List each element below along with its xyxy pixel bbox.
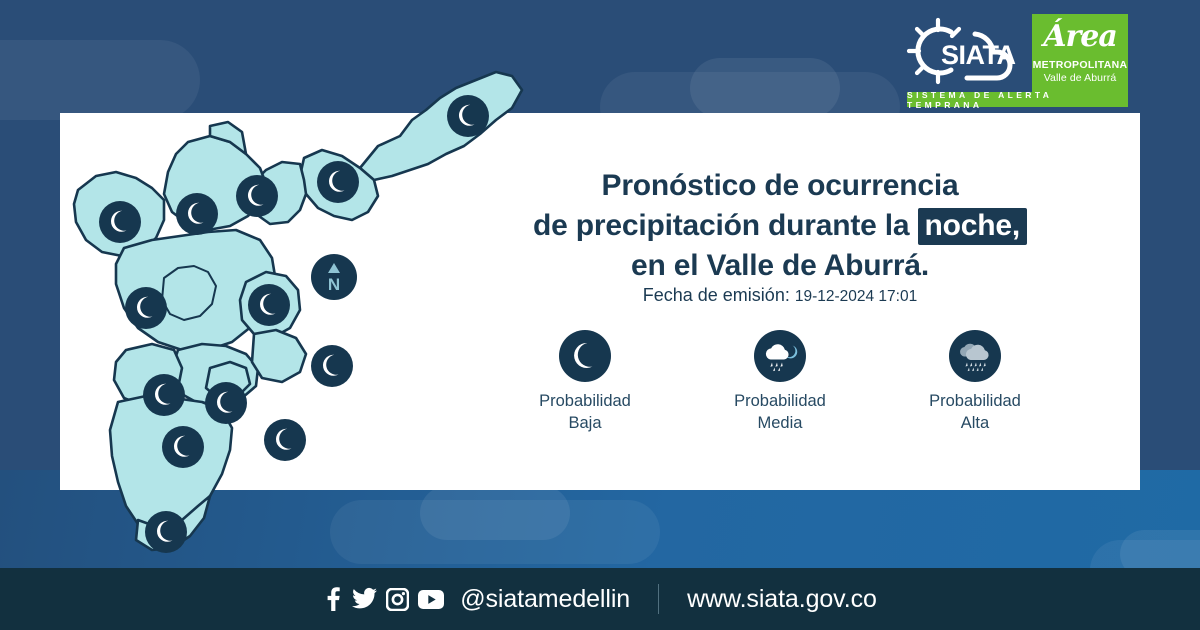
legend-alta-line2: Alta	[929, 413, 1021, 435]
twitter-icon[interactable]	[352, 587, 377, 611]
decor-cloud-top-mid2	[690, 58, 840, 118]
issue-date-value: 19-12-2024 17:01	[795, 288, 917, 305]
issue-date: Fecha de emisión: 19-12-2024 17:01	[470, 285, 1090, 306]
valle-de-aburra-map: N	[60, 50, 540, 570]
youtube-icon[interactable]	[418, 590, 444, 609]
moon-icon	[559, 330, 611, 382]
amva-line1: METROPOLITANA	[1033, 59, 1128, 71]
social-icons	[323, 587, 444, 611]
facebook-icon[interactable]	[323, 587, 343, 611]
cloud-rain-moon-icon	[754, 330, 806, 382]
map-badge[interactable]	[316, 160, 360, 204]
amva-script-text: Área	[1043, 22, 1117, 52]
issue-date-label: Fecha de emisión:	[643, 285, 790, 305]
map-badge[interactable]	[235, 174, 279, 218]
map-badge[interactable]	[175, 192, 219, 236]
headline-line-2: de precipitación durante la noche,	[470, 206, 1090, 246]
page-title: Pronóstico de ocurrencia de precipitació…	[470, 166, 1090, 286]
map-badge[interactable]	[144, 510, 188, 554]
brand-logos: SIATA Área METROPOLITANA Valle de Aburrá	[903, 14, 1128, 100]
legend-alta-line1: Probabilidad	[929, 391, 1021, 413]
map-badge[interactable]	[124, 286, 168, 330]
amva-logo: Área METROPOLITANA Valle de Aburrá	[1032, 14, 1128, 100]
headline-line-2-text: de precipitación durante la	[533, 209, 918, 242]
legend-baja-line1: Probabilidad	[539, 391, 631, 413]
headline-highlight: noche,	[918, 208, 1027, 246]
legend-item-alta: Probabilidad Alta	[885, 330, 1065, 435]
legend-label-alta: Probabilidad Alta	[929, 391, 1021, 435]
map-badge[interactable]	[98, 200, 142, 244]
footer-bar: @siatamedellin www.siata.gov.co	[0, 568, 1200, 630]
compass-north-icon: N	[311, 254, 357, 300]
siata-logo: SIATA	[903, 14, 1028, 94]
headline-line-1: Pronóstico de ocurrencia	[470, 166, 1090, 206]
map-badge[interactable]	[263, 418, 307, 462]
svg-text:N: N	[328, 275, 340, 294]
legend-label-baja: Probabilidad Baja	[539, 391, 631, 435]
legend-label-media: Probabilidad Media	[734, 391, 826, 435]
social-handle[interactable]: @siatamedellin	[460, 585, 630, 614]
amva-line2: Valle de Aburrá	[1044, 72, 1117, 84]
map-badge[interactable]	[161, 425, 205, 469]
instagram-icon[interactable]	[386, 588, 409, 611]
tagline-bar: SISTEMA DE ALERTA TEMPRANA	[907, 92, 1128, 107]
website-url[interactable]: www.siata.gov.co	[687, 585, 877, 614]
legend-media-line2: Media	[734, 413, 826, 435]
map-badge[interactable]	[142, 373, 186, 417]
legend-item-baja: Probabilidad Baja	[495, 330, 675, 435]
map-badge[interactable]	[204, 381, 248, 425]
footer-divider	[658, 584, 659, 614]
map-badge[interactable]	[446, 94, 490, 138]
cloud-heavy-rain-icon	[949, 330, 1001, 382]
map-badge[interactable]	[247, 283, 291, 327]
legend-media-line1: Probabilidad	[734, 391, 826, 413]
headline-line-3: en el Valle de Aburrá.	[470, 246, 1090, 286]
legend-baja-line2: Baja	[539, 413, 631, 435]
svg-text:SIATA: SIATA	[941, 40, 1016, 70]
map-badge[interactable]	[310, 344, 354, 388]
probability-legend: Probabilidad Baja	[495, 330, 1065, 435]
legend-item-media: Probabilidad Media	[690, 330, 870, 435]
poster-root: SIATA Área METROPOLITANA Valle de Aburrá…	[0, 0, 1200, 630]
